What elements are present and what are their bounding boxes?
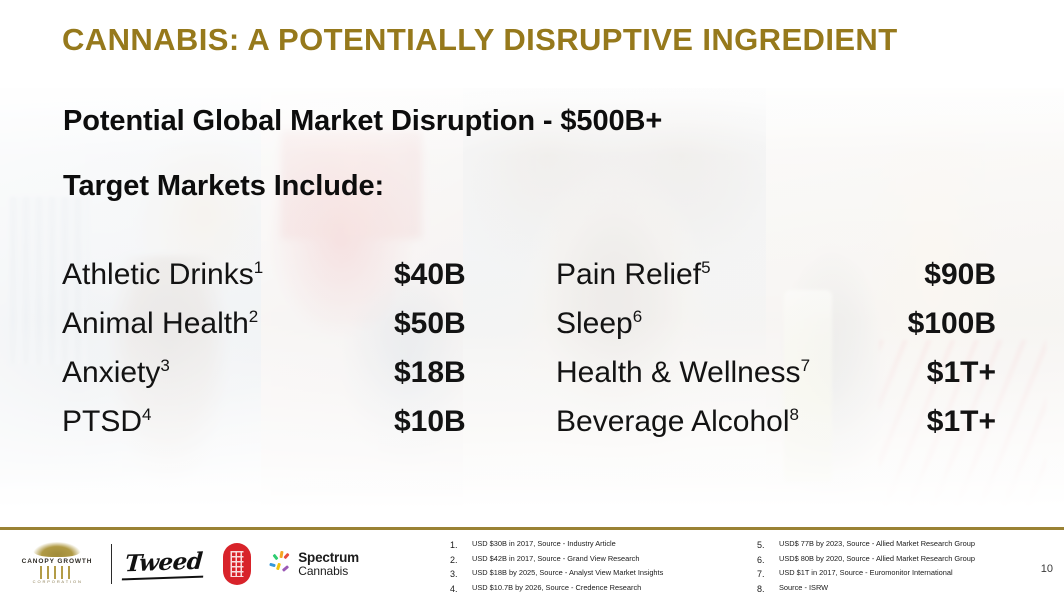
heading-target-markets: Target Markets Include:	[63, 170, 384, 203]
market-label-athletic-drinks: Athletic Drinks1	[62, 258, 263, 292]
footnote-text: USD$ 77B by 2023, Source - Allied Market…	[779, 538, 975, 553]
market-value-pain-relief: $90B	[924, 258, 996, 292]
canopy-growth-logo: CANOPY GROWTH C O R P O R A T I O N	[14, 541, 100, 587]
market-value-anxiety: $18B	[394, 356, 466, 390]
footnote-item: 6. USD$ 80B by 2020, Source - Allied Mar…	[757, 553, 975, 568]
footnote-number: 5.	[757, 538, 779, 553]
spectrum-wordmark: Spectrum Cannabis	[298, 551, 359, 578]
page-number: 10	[1041, 563, 1053, 575]
market-value-athletic-drinks: $40B	[394, 258, 466, 292]
market-label-pain-relief: Pain Relief5	[556, 258, 711, 292]
market-value-sleep: $100B	[908, 307, 996, 341]
spectrum-word-bottom: Cannabis	[298, 565, 359, 578]
market-label-beverage-alcohol: Beverage Alcohol8	[556, 405, 799, 439]
footnote-text: USD $30B in 2017, Source - Industry Arti…	[472, 538, 616, 553]
footer-divider	[0, 527, 1064, 530]
footnote-item: 7. USD $1T in 2017, Source - Euromonitor…	[757, 567, 975, 582]
logo-strip: CANOPY GROWTH C O R P O R A T I O N Twee…	[14, 541, 359, 587]
canopy-growth-wordmark: CANOPY GROWTH	[14, 558, 100, 565]
slide-content: Potential Global Market Disruption - $50…	[0, 0, 1064, 597]
spectrum-cannabis-logo: Spectrum Cannabis	[271, 551, 359, 578]
heading-market-disruption: Potential Global Market Disruption - $50…	[63, 105, 662, 138]
starburst-icon	[271, 551, 293, 577]
market-label-ptsd: PTSD4	[62, 405, 151, 439]
footnote-item: 8. Source - ISRW	[757, 582, 975, 597]
footnote-number: 3.	[450, 567, 472, 582]
footnote-number: 1.	[450, 538, 472, 553]
footnote-text: USD $10.7B by 2026, Source - Credence Re…	[472, 582, 641, 597]
market-row: Athletic Drinks1 $40B Pain Relief5 $90B	[0, 258, 1064, 307]
footnote-number: 8.	[757, 582, 779, 597]
footnote-item: 2. USD $42B in 2017, Source - Grand View…	[450, 553, 663, 568]
footnote-number: 7.	[757, 567, 779, 582]
footnote-text: USD $42B in 2017, Source - Grand View Re…	[472, 553, 639, 568]
footnote-text: USD$ 80B by 2020, Source - Allied Market…	[779, 553, 975, 568]
market-row: Anxiety3 $18B Health & Wellness7 $1T+	[0, 356, 1064, 405]
footnotes-right-column: 5. USD$ 77B by 2023, Source - Allied Mar…	[757, 538, 975, 596]
footnote-item: 1. USD $30B in 2017, Source - Industry A…	[450, 538, 663, 553]
tree-icon	[33, 542, 81, 557]
market-value-animal-health: $50B	[394, 307, 466, 341]
footnote-item: 3. USD $18B by 2025, Source - Analyst Vi…	[450, 567, 663, 582]
logo-separator	[111, 544, 112, 584]
capsule-icon	[223, 543, 251, 585]
footnote-number: 2.	[450, 553, 472, 568]
tweed-logo: Tweed	[122, 548, 206, 581]
market-row: PTSD4 $10B Beverage Alcohol8 $1T+	[0, 405, 1064, 454]
footnote-item: 5. USD$ 77B by 2023, Source - Allied Mar…	[757, 538, 975, 553]
market-value-health-wellness: $1T+	[927, 356, 996, 390]
footnote-number: 6.	[757, 553, 779, 568]
slide-footer: CANOPY GROWTH C O R P O R A T I O N Twee…	[0, 533, 1064, 597]
market-value-beverage-alcohol: $1T+	[927, 405, 996, 439]
footnote-number: 4.	[450, 582, 472, 597]
footnote-text: USD $18B by 2025, Source - Analyst View …	[472, 567, 663, 582]
market-row: Animal Health2 $50B Sleep6 $100B	[0, 307, 1064, 356]
spectrum-word-top: Spectrum	[298, 551, 359, 565]
footnotes-left-column: 1. USD $30B in 2017, Source - Industry A…	[450, 538, 663, 596]
tree-trunk-icon	[40, 566, 74, 579]
target-markets-list: Athletic Drinks1 $40B Pain Relief5 $90B …	[0, 258, 1064, 454]
market-label-health-wellness: Health & Wellness7	[556, 356, 810, 390]
footnote-item: 4. USD $10.7B by 2026, Source - Credence…	[450, 582, 663, 597]
market-label-sleep: Sleep6	[556, 307, 642, 341]
slide: CANNABIS: A POTENTIALLY DISRUPTIVE INGRE…	[0, 0, 1064, 597]
footnote-text: USD $1T in 2017, Source - Euromonitor In…	[779, 567, 953, 582]
footnote-text: Source - ISRW	[779, 582, 828, 597]
canopy-corporation-text: C O R P O R A T I O N	[33, 579, 82, 584]
market-label-anxiety: Anxiety3	[62, 356, 170, 390]
market-label-animal-health: Animal Health2	[62, 307, 258, 341]
market-value-ptsd: $10B	[394, 405, 466, 439]
